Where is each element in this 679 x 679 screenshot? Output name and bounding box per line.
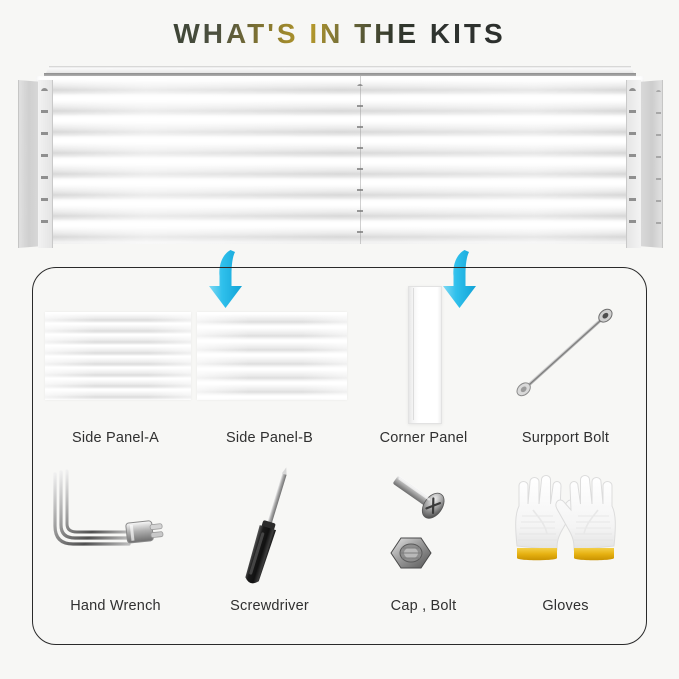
kit-item-label: Side Panel-A bbox=[39, 430, 192, 446]
kit-item-corner-panel: Corner Panel bbox=[347, 278, 500, 466]
title-bar: WHAT'S IN THE KITS bbox=[0, 18, 679, 50]
kit-item-label: Hand Wrench bbox=[39, 598, 192, 614]
gloves-icon bbox=[489, 464, 642, 594]
kit-contents-panel: Side Panel-A Side Panel-B Corner Panel bbox=[32, 267, 647, 645]
kit-item-label: Side Panel-B bbox=[193, 430, 346, 446]
hand-wrench-icon bbox=[39, 464, 192, 594]
corrugated-panel-b-icon bbox=[193, 278, 346, 428]
bed-corrugated-body bbox=[36, 76, 644, 244]
kit-item-label: Cap , Bolt bbox=[347, 598, 500, 614]
support-bolt-icon bbox=[489, 278, 642, 428]
kit-item-support-bolt: Surpport Bolt bbox=[489, 278, 642, 466]
cap-bolt-icon bbox=[347, 464, 500, 594]
corner-panel-icon bbox=[347, 278, 500, 428]
corrugated-panel-a-icon bbox=[39, 278, 192, 428]
kit-item-hand-wrench: Hand Wrench bbox=[39, 464, 192, 634]
raised-garden-bed-image bbox=[8, 64, 671, 256]
bed-right-rivet-column-outer bbox=[656, 90, 661, 238]
kit-item-label: Surpport Bolt bbox=[489, 430, 642, 446]
kit-item-gloves: Gloves bbox=[489, 464, 642, 634]
screwdriver-icon bbox=[193, 464, 346, 594]
kit-item-side-panel-b: Side Panel-B bbox=[193, 278, 346, 466]
bed-right-rivet-column bbox=[629, 88, 636, 240]
kit-item-screwdriver: Screwdriver bbox=[193, 464, 346, 634]
kit-item-label: Screwdriver bbox=[193, 598, 346, 614]
page-title: WHAT'S IN THE KITS bbox=[173, 18, 505, 50]
bed-left-rivet-column bbox=[41, 88, 48, 240]
kit-item-label: Corner Panel bbox=[347, 430, 500, 446]
kit-item-cap-bolt: Cap , Bolt bbox=[347, 464, 500, 634]
bed-center-rivets bbox=[357, 84, 363, 236]
kit-item-side-panel-a: Side Panel-A bbox=[39, 278, 192, 466]
kit-item-label: Gloves bbox=[489, 598, 642, 614]
